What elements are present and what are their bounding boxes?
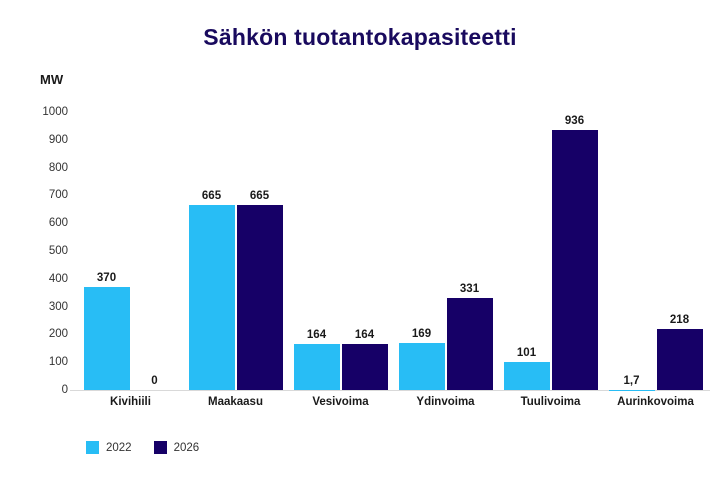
bar-value-label: 331 [460,283,479,295]
bar-group: 3700 [78,112,183,390]
y-axis-tick: 800 [22,162,68,174]
bar-maakaasu-2022[interactable] [189,205,235,390]
x-axis-baseline [70,390,710,391]
chart-container: Sähkön tuotantokapasiteetti MW 100090080… [0,0,720,483]
bar-slot: 164 [342,112,388,390]
legend-label: 2022 [106,442,132,454]
bar-vesivoima-2022[interactable] [294,344,340,390]
bar-slot: 218 [657,112,703,390]
bar-value-label: 936 [565,115,584,127]
bar-slot: 169 [399,112,445,390]
bar-value-label: 101 [517,347,536,359]
legend-swatch-icon [154,441,167,454]
bar-value-label: 169 [412,328,431,340]
chart-title: Sähkön tuotantokapasiteetti [0,24,720,51]
bar-maakaasu-2026[interactable] [237,205,283,390]
y-axis-tick: 400 [22,273,68,285]
y-axis-tick: 900 [22,134,68,146]
x-axis-category-labels: KivihiiliMaakaasuVesivoimaYdinvoimaTuuli… [78,396,708,408]
legend-item-2026[interactable]: 2026 [154,441,200,454]
x-axis-category-label: Kivihiili [78,396,183,408]
bar-slot: 1,7 [609,112,655,390]
bar-group: 169331 [393,112,498,390]
bar-group: 101936 [498,112,603,390]
bar-slot: 164 [294,112,340,390]
bar-slot: 101 [504,112,550,390]
bar-groups: 37006656651641641693311019361,7218 [78,112,708,390]
bar-value-label: 665 [250,190,269,202]
bar-aurinkovoima-2026[interactable] [657,329,703,390]
legend-swatch-icon [86,441,99,454]
y-axis-tick: 100 [22,356,68,368]
y-axis-ticks: 10009008007006005004003002001000 [22,112,68,390]
x-axis-category-label: Vesivoima [288,396,393,408]
y-axis-tick: 500 [22,245,68,257]
bar-ydinvoima-2022[interactable] [399,343,445,390]
bar-value-label: 0 [151,375,157,387]
bar-vesivoima-2026[interactable] [342,344,388,390]
bar-tuulivoima-2026[interactable] [552,130,598,390]
legend-label: 2026 [174,442,200,454]
bar-slot: 0 [132,112,178,390]
bar-slot: 370 [84,112,130,390]
bar-ydinvoima-2026[interactable] [447,298,493,390]
x-axis-category-label: Ydinvoima [393,396,498,408]
x-axis-category-label: Maakaasu [183,396,288,408]
bar-group: 665665 [183,112,288,390]
y-axis-tick: 200 [22,328,68,340]
y-axis-tick: 1000 [22,106,68,118]
bar-slot: 331 [447,112,493,390]
y-axis-tick: 300 [22,301,68,313]
y-axis-tick: 0 [22,384,68,396]
bar-tuulivoima-2022[interactable] [504,362,550,390]
bar-slot: 665 [237,112,283,390]
x-axis-category-label: Aurinkovoima [603,396,708,408]
bar-slot: 665 [189,112,235,390]
bar-value-label: 218 [670,314,689,326]
bar-group: 164164 [288,112,393,390]
chart-legend: 20222026 [86,441,199,454]
y-axis-tick: 700 [22,189,68,201]
bar-kivihiili-2022[interactable] [84,287,130,390]
bar-value-label: 164 [355,329,374,341]
legend-item-2022[interactable]: 2022 [86,441,132,454]
bar-value-label: 370 [97,272,116,284]
x-axis-category-label: Tuulivoima [498,396,603,408]
bar-group: 1,7218 [603,112,708,390]
y-axis-tick: 600 [22,217,68,229]
y-axis-unit-label: MW [40,72,63,87]
bar-value-label: 1,7 [624,375,640,387]
bar-slot: 936 [552,112,598,390]
bar-value-label: 164 [307,329,326,341]
bar-value-label: 665 [202,190,221,202]
